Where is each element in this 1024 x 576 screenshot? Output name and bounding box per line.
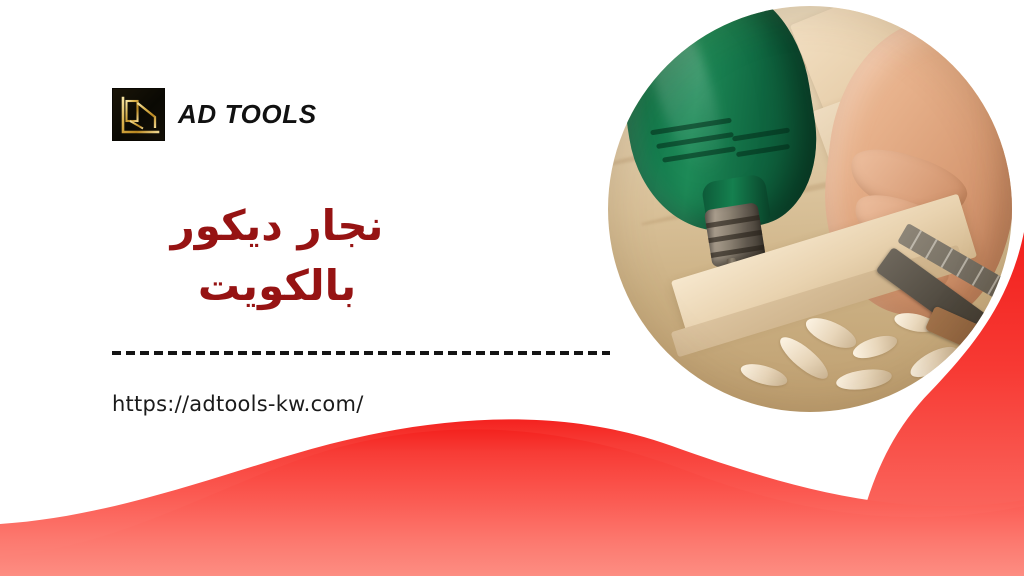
- headline-line-2: بالكويت: [112, 256, 442, 316]
- page-title: نجار ديكور بالكويت: [112, 196, 442, 315]
- brand-name: AD TOOLS: [178, 99, 317, 130]
- set-square-ruler-icon: [112, 88, 165, 141]
- dashed-divider: [112, 351, 610, 355]
- brand-lockup: AD TOOLS: [112, 88, 317, 141]
- carpentry-photo: [608, 6, 1012, 412]
- website-url[interactable]: https://adtools-kw.com/: [112, 392, 364, 416]
- photo-vignette: [608, 6, 1012, 412]
- promo-banner: AD TOOLS نجار ديكور بالكويت https://adto…: [0, 0, 1024, 576]
- content-column: AD TOOLS نجار ديكور بالكويت https://adto…: [0, 0, 600, 576]
- headline-line-1: نجار ديكور: [112, 196, 442, 256]
